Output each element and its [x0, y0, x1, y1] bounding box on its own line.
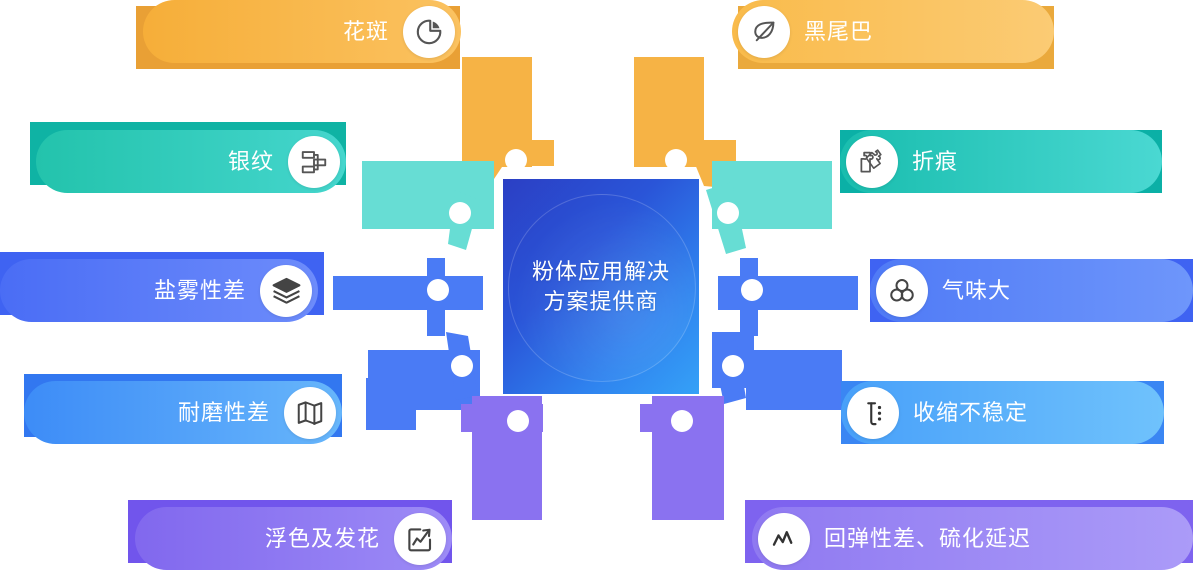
- node-label-huaban: 花斑: [343, 21, 389, 43]
- node-yinwen[interactable]: 银纹: [36, 130, 346, 193]
- infographic-canvas: 粉体应用解决 方案提供商 花斑 银纹 盐雾性差: [0, 0, 1193, 577]
- node-shousuobuwending[interactable]: 收缩不稳定: [841, 381, 1164, 444]
- puzzle-icon: [846, 136, 898, 188]
- node-huaban[interactable]: 花斑: [143, 0, 461, 63]
- node-label-zhehen: 折痕: [912, 151, 958, 173]
- center-title: 粉体应用解决 方案提供商: [532, 257, 670, 317]
- node-naimoxingcha[interactable]: 耐磨性差: [24, 381, 342, 444]
- connector-left-orange: [462, 57, 554, 188]
- three-circles-icon: [876, 265, 928, 317]
- zigzag-line-icon: [758, 513, 810, 565]
- node-zhehen[interactable]: 折痕: [840, 130, 1162, 193]
- connector-right-purple: [640, 396, 724, 520]
- map-icon: [284, 387, 336, 439]
- node-huitanxingcha[interactable]: 回弹性差、硫化延迟: [752, 507, 1193, 570]
- node-label-naimoxingcha: 耐磨性差: [178, 402, 270, 424]
- connector-right-blue-2: [712, 332, 842, 410]
- trend-chart-icon: [394, 513, 446, 565]
- pie-chart-icon: [403, 6, 455, 58]
- connector-left-blue-1: [333, 258, 483, 336]
- connector-right-orange: [634, 57, 736, 188]
- leaf-icon: [738, 6, 790, 58]
- connector-left-purple: [461, 396, 543, 520]
- node-label-yinwen: 银纹: [228, 151, 274, 173]
- node-qiweida[interactable]: 气味大: [870, 259, 1193, 322]
- node-fusejifahua[interactable]: 浮色及发花: [135, 507, 452, 570]
- connector-left-teal: [362, 161, 494, 250]
- node-label-qiweida: 气味大: [942, 280, 1011, 302]
- layers-icon: [260, 265, 312, 317]
- connector-left-blue-2: [366, 332, 480, 430]
- connector-right-teal: [706, 161, 832, 254]
- connector-right-blue-1: [718, 258, 858, 336]
- flask-dots-icon: [847, 387, 899, 439]
- node-label-huitanxingcha: 回弹性差、硫化延迟: [824, 528, 1031, 550]
- node-label-fusejifahua: 浮色及发花: [265, 528, 380, 550]
- center-node: 粉体应用解决 方案提供商: [503, 179, 699, 394]
- node-label-yanwuxingcha: 盐雾性差: [154, 280, 246, 302]
- node-heiweiba[interactable]: 黑尾巴: [732, 0, 1054, 63]
- node-yanwuxingcha[interactable]: 盐雾性差: [0, 259, 318, 322]
- node-label-shousuobuwending: 收缩不稳定: [913, 402, 1028, 424]
- sitemap-icon: [288, 136, 340, 188]
- node-label-heiweiba: 黑尾巴: [804, 21, 873, 43]
